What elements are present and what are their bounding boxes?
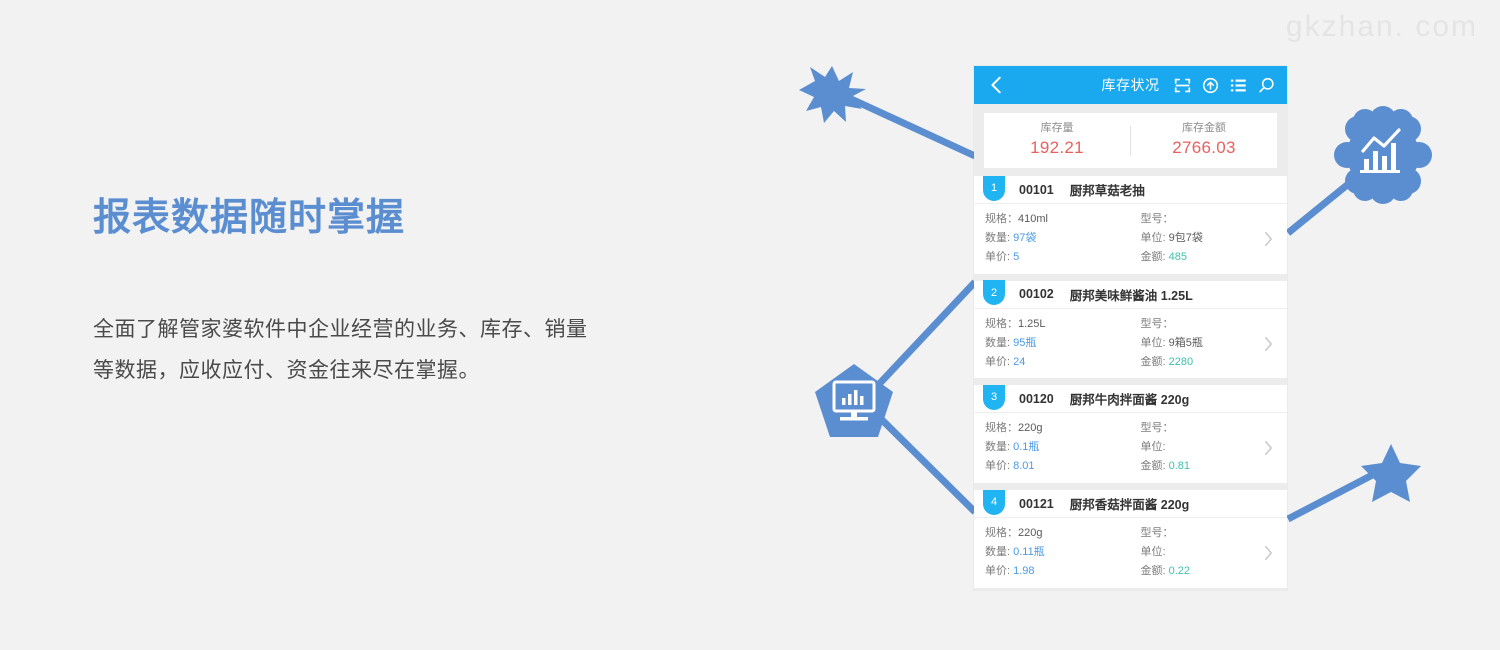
unit-label: 单位: bbox=[1141, 337, 1166, 349]
starburst-badge bbox=[799, 66, 866, 123]
monitor-chart-badge bbox=[815, 364, 893, 437]
cloud-chart-badge bbox=[1334, 106, 1432, 204]
item-sku: 00102 bbox=[1019, 287, 1054, 301]
monitor-base bbox=[840, 417, 868, 421]
list-item[interactable]: 2 00102 厨邦美味鲜酱油 1.25L 规格：1.25L 数量: 95瓶 单… bbox=[974, 281, 1287, 379]
price-value: 8.01 bbox=[1013, 460, 1034, 472]
item-qty-row: 数量: 0.1瓶 bbox=[985, 438, 1131, 457]
amount-label: 金额: bbox=[1141, 356, 1166, 368]
item-name: 厨邦牛肉拌面酱 220g bbox=[1070, 389, 1189, 408]
spec-label: 规格： bbox=[985, 213, 1018, 225]
spec-value: 220g bbox=[1018, 527, 1042, 539]
connector-line-mid-upper bbox=[866, 282, 975, 398]
list-item-body: 规格：410ml 数量: 97袋 单价: 5 型号： 单位: 9包7袋 金额: … bbox=[974, 204, 1287, 274]
list-item-body: 规格：220g 数量: 0.1瓶 单价: 8.01 型号： 单位: 金额: 0.… bbox=[974, 413, 1287, 483]
price-label: 单价: bbox=[985, 356, 1010, 368]
item-col-left: 规格：220g 数量: 0.1瓶 单价: 8.01 bbox=[974, 419, 1131, 476]
amount-value: 485 bbox=[1169, 251, 1187, 263]
unit-label: 单位: bbox=[1141, 232, 1166, 244]
summary-value: 2766.03 bbox=[1131, 136, 1277, 161]
site-watermark: gkzhan. com bbox=[1286, 10, 1478, 44]
item-model-row: 型号： bbox=[1141, 315, 1288, 334]
unit-label: 单位: bbox=[1141, 441, 1166, 453]
marketing-copy: 报表数据随时掌握 全面了解管家婆软件中企业经营的业务、库存、销量等数据，应收应付… bbox=[93, 196, 633, 391]
price-label: 单价: bbox=[985, 251, 1010, 263]
list-item[interactable]: 4 00121 厨邦香菇拌面酱 220g 规格：220g 数量: 0.11瓶 单… bbox=[974, 490, 1287, 588]
list-item-header: 2 00102 厨邦美味鲜酱油 1.25L bbox=[974, 281, 1287, 309]
price-value: 1.98 bbox=[1013, 565, 1034, 577]
monitor-stand bbox=[851, 412, 857, 418]
item-amount-row: 金额: 0.22 bbox=[1141, 562, 1288, 581]
connector-line-top-right bbox=[1288, 168, 1368, 233]
item-name: 厨邦草菇老抽 bbox=[1070, 180, 1145, 199]
qty-label: 数量: bbox=[985, 337, 1010, 349]
monitor-bar-3 bbox=[854, 390, 858, 405]
amount-value: 2280 bbox=[1169, 356, 1193, 368]
price-label: 单价: bbox=[985, 460, 1010, 472]
item-sku: 00120 bbox=[1019, 392, 1054, 406]
page-description: 全面了解管家婆软件中企业经营的业务、库存、销量等数据，应收应付、资金往来尽在掌握… bbox=[93, 310, 593, 392]
star-icon bbox=[1361, 444, 1421, 502]
list-item-body: 规格：220g 数量: 0.11瓶 单价: 1.98 型号： 单位: 金额: 0… bbox=[974, 518, 1287, 588]
amount-value: 0.81 bbox=[1169, 460, 1190, 472]
item-col-left: 规格：220g 数量: 0.11瓶 单价: 1.98 bbox=[974, 524, 1131, 581]
summary-label: 库存量 bbox=[984, 120, 1130, 137]
chevron-right-icon[interactable] bbox=[1263, 230, 1274, 248]
item-sku: 00121 bbox=[1019, 497, 1054, 511]
amount-label: 金额: bbox=[1141, 460, 1166, 472]
spec-value: 410ml bbox=[1018, 213, 1048, 225]
item-model-row: 型号： bbox=[1141, 210, 1288, 229]
item-spec-row: 规格：220g bbox=[985, 524, 1131, 543]
chevron-right-icon[interactable] bbox=[1263, 439, 1274, 457]
model-label: 型号： bbox=[1141, 422, 1174, 434]
inventory-summary-card: 库存量 192.21 库存金额 2766.03 bbox=[984, 113, 1277, 168]
back-chevron-icon[interactable] bbox=[986, 74, 1008, 96]
page-title: 报表数据随时掌握 bbox=[93, 196, 633, 242]
item-amount-row: 金额: 485 bbox=[1141, 248, 1288, 267]
inventory-list: 1 00101 厨邦草菇老抽 规格：410ml 数量: 97袋 单价: 5 型号… bbox=[974, 176, 1287, 588]
item-index-badge: 1 bbox=[983, 176, 1005, 201]
nav-icon-group bbox=[1174, 77, 1275, 94]
scalloped-shape bbox=[1334, 106, 1432, 204]
item-price-row: 单价: 8.01 bbox=[985, 457, 1131, 476]
item-index-badge: 2 bbox=[983, 280, 1005, 305]
spec-value: 1.25L bbox=[1018, 318, 1046, 330]
item-index-badge: 4 bbox=[983, 490, 1005, 515]
summary-label: 库存金额 bbox=[1131, 120, 1277, 137]
spec-value: 220g bbox=[1018, 422, 1042, 434]
item-name: 厨邦香菇拌面酱 220g bbox=[1070, 494, 1189, 513]
qty-value: 0.11瓶 bbox=[1013, 546, 1045, 558]
summary-cell-amount: 库存金额 2766.03 bbox=[1131, 120, 1277, 161]
item-amount-row: 金额: 0.81 bbox=[1141, 457, 1288, 476]
summary-cell-quantity: 库存量 192.21 bbox=[984, 120, 1130, 161]
list-icon[interactable] bbox=[1230, 77, 1247, 94]
item-sku: 00101 bbox=[1019, 183, 1054, 197]
list-item[interactable]: 1 00101 厨邦草菇老抽 规格：410ml 数量: 97袋 单价: 5 型号… bbox=[974, 176, 1287, 274]
price-label: 单价: bbox=[985, 565, 1010, 577]
price-value: 24 bbox=[1013, 356, 1025, 368]
connector-line-top-left bbox=[836, 92, 975, 156]
chevron-right-icon[interactable] bbox=[1263, 335, 1274, 353]
list-item-header: 1 00101 厨邦草菇老抽 bbox=[974, 176, 1287, 204]
bar-chart-trend-icon bbox=[1360, 130, 1400, 173]
qty-label: 数量: bbox=[985, 546, 1010, 558]
spec-label: 规格： bbox=[985, 318, 1018, 330]
model-label: 型号： bbox=[1141, 318, 1174, 330]
amount-label: 金额: bbox=[1141, 251, 1166, 263]
list-item-header: 4 00121 厨邦香菇拌面酱 220g bbox=[974, 490, 1287, 518]
item-model-row: 型号： bbox=[1141, 419, 1288, 438]
monitor-chart-icon bbox=[834, 382, 874, 411]
pentagon-shape bbox=[815, 364, 893, 437]
spec-label: 规格： bbox=[985, 422, 1018, 434]
item-qty-row: 数量: 97袋 bbox=[985, 229, 1131, 248]
list-item-header: 3 00120 厨邦牛肉拌面酱 220g bbox=[974, 385, 1287, 413]
qty-label: 数量: bbox=[985, 441, 1010, 453]
list-item[interactable]: 3 00120 厨邦牛肉拌面酱 220g 规格：220g 数量: 0.1瓶 单价… bbox=[974, 385, 1287, 483]
star-badge bbox=[1361, 444, 1421, 502]
item-index-badge: 3 bbox=[983, 385, 1005, 410]
item-col-left: 规格：410ml 数量: 97袋 单价: 5 bbox=[974, 210, 1131, 267]
search-icon[interactable] bbox=[1258, 77, 1275, 94]
upload-circle-icon[interactable] bbox=[1202, 77, 1219, 94]
connector-line-mid-lower bbox=[866, 404, 975, 512]
qty-value: 97袋 bbox=[1013, 232, 1036, 244]
model-label: 型号： bbox=[1141, 213, 1174, 225]
qty-value: 95瓶 bbox=[1013, 337, 1036, 349]
item-qty-row: 数量: 95瓶 bbox=[985, 334, 1131, 353]
model-label: 型号： bbox=[1141, 527, 1174, 539]
item-qty-row: 数量: 0.11瓶 bbox=[985, 543, 1131, 562]
item-price-row: 单价: 1.98 bbox=[985, 562, 1131, 581]
app-nav-bar: 库存状况 bbox=[974, 66, 1287, 104]
connector-line-bottom-right bbox=[1288, 470, 1382, 519]
qty-value: 0.1瓶 bbox=[1013, 441, 1039, 453]
amount-label: 金额: bbox=[1141, 565, 1166, 577]
chevron-right-icon[interactable] bbox=[1263, 544, 1274, 562]
spec-label: 规格： bbox=[985, 527, 1018, 539]
item-spec-row: 规格：1.25L bbox=[985, 315, 1131, 334]
monitor-bar-1 bbox=[842, 398, 846, 405]
phone-mockup: 库存状况 库存量 bbox=[974, 66, 1287, 590]
starburst-icon bbox=[799, 66, 866, 123]
unit-value: 9箱5瓶 bbox=[1169, 337, 1203, 349]
qty-label: 数量: bbox=[985, 232, 1010, 244]
item-price-row: 单价: 24 bbox=[985, 353, 1131, 372]
item-model-row: 型号： bbox=[1141, 524, 1288, 543]
item-amount-row: 金额: 2280 bbox=[1141, 353, 1288, 372]
list-item-body: 规格：1.25L 数量: 95瓶 单价: 24 型号： 单位: 9箱5瓶 金额:… bbox=[974, 309, 1287, 379]
unit-label: 单位: bbox=[1141, 546, 1166, 558]
monitor-bar-2 bbox=[848, 394, 852, 405]
item-col-left: 规格：1.25L 数量: 95瓶 单价: 24 bbox=[974, 315, 1131, 372]
unit-value: 9包7袋 bbox=[1169, 232, 1203, 244]
item-spec-row: 规格：220g bbox=[985, 419, 1131, 438]
item-spec-row: 规格：410ml bbox=[985, 210, 1131, 229]
item-name: 厨邦美味鲜酱油 1.25L bbox=[1070, 285, 1193, 304]
summary-value: 192.21 bbox=[984, 136, 1130, 161]
item-price-row: 单价: 5 bbox=[985, 248, 1131, 267]
amount-value: 0.22 bbox=[1169, 565, 1190, 577]
scan-icon[interactable] bbox=[1174, 77, 1191, 94]
monitor-bar-4 bbox=[860, 396, 864, 405]
price-value: 5 bbox=[1013, 251, 1019, 263]
